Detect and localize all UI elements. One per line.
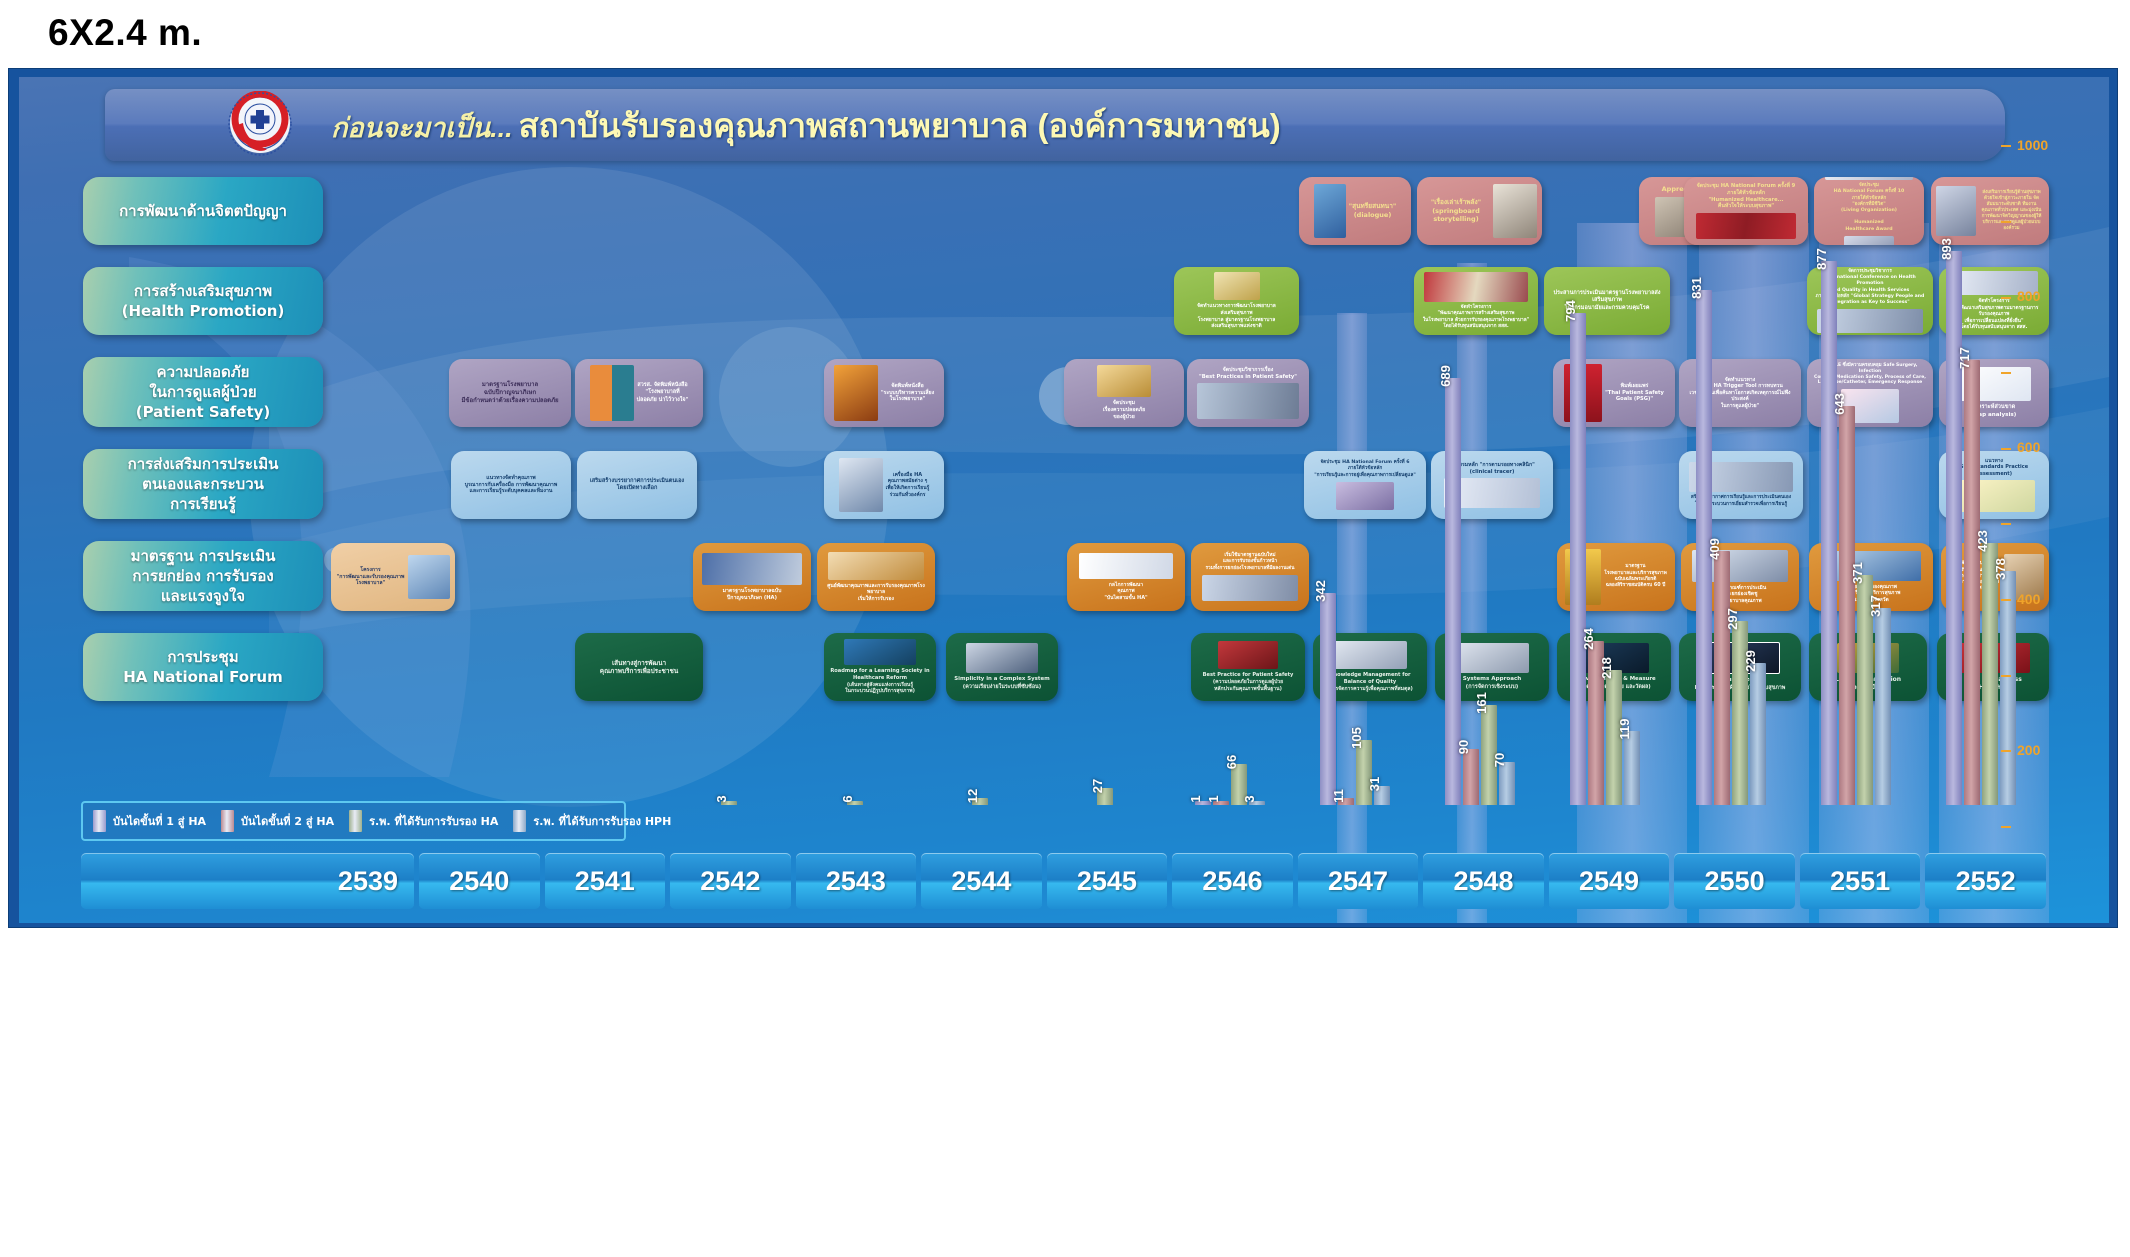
y-tick-dash [2001, 675, 2011, 677]
bar-value-label: 229 [1743, 650, 1758, 672]
bar-2547-s3[interactable]: 31 [1374, 786, 1390, 805]
sidebar-item-safety[interactable]: ความปลอดภัย ในการดูแลผู้ป่วย (Patient Sa… [83, 357, 323, 427]
legend-label-1: บันไดขั้นที่ 2 สู่ HA [241, 812, 334, 830]
bar-value-label: 3 [714, 795, 729, 802]
bar-value-label: 6 [840, 795, 855, 802]
y-tick-dash [2001, 145, 2011, 147]
legend-swatch-3 [513, 810, 526, 832]
year-cell-2552[interactable]: 2552 [1925, 853, 2046, 909]
y-tick-label: 1000 [2017, 137, 2048, 153]
bar-group-2549: 794264218119 [1545, 185, 1665, 805]
bar-value-label: 11 [1331, 789, 1346, 803]
year-cell-2543[interactable]: 2543 [796, 853, 917, 909]
bar-2552-s2[interactable]: 423 [1982, 543, 1998, 805]
y-tick-800: 800 [2001, 288, 2105, 304]
bar-2547-s2[interactable]: 105 [1356, 740, 1372, 805]
page-title: ก่อนจะมาเป็น...สถาบันรับรองคุณภาพสถานพยา… [331, 99, 1281, 152]
y-tick-600: 600 [2001, 439, 2105, 455]
bar-value-label: 409 [1707, 539, 1722, 561]
year-cell-2549[interactable]: 2549 [1549, 853, 1670, 909]
haa-institute-logo [215, 91, 305, 159]
bar-2548-s1[interactable]: 90 [1463, 749, 1479, 805]
bar-group-2550: 831409297229 [1671, 185, 1791, 805]
bar-value-label: 423 [1975, 530, 1990, 552]
bar-value-label: 218 [1599, 657, 1614, 679]
y-tick-label: 200 [2017, 742, 2040, 758]
y-tick-100: 100 [2001, 817, 2105, 833]
poster-header: ก่อนจะมาเป็น...สถาบันรับรองคุณภาพสถานพยา… [105, 89, 2005, 161]
sidebar-item-forum[interactable]: การประชุม HA National Forum [83, 633, 323, 701]
bar-2551-s3[interactable]: 317 [1875, 608, 1891, 805]
y-tick-300: 300 [2001, 666, 2105, 682]
y-tick-label: 800 [2017, 288, 2040, 304]
y-tick-dash [2001, 297, 2011, 299]
y-tick-dash [2001, 826, 2011, 828]
bar-value-label: 643 [1832, 393, 1847, 415]
bar-value-label: 297 [1725, 608, 1740, 630]
page-title-prefix: ก่อนจะมาเป็น... [331, 113, 513, 143]
sidebar-item-standards[interactable]: มาตรฐาน การประเมิน การยกย่อง การรับรอง แ… [83, 541, 323, 611]
bar-value-label: 12 [965, 788, 980, 802]
y-tick-900: 900 [2001, 213, 2105, 229]
y-tick-dash [2001, 750, 2011, 752]
bar-chart: 3612271166334211105316899016170794264218… [319, 185, 2019, 805]
page-title-main: สถาบันรับรองคุณภาพสถานพยาบาล (องค์การมหา… [519, 107, 1281, 144]
bar-group-2543: 6 [794, 185, 914, 805]
bar-2546-s1[interactable]: 1 [1213, 801, 1229, 805]
y-tick-400: 400 [2001, 591, 2105, 607]
bar-value-label: 371 [1850, 562, 1865, 584]
bar-group-2542: 3 [669, 185, 789, 805]
sidebar-item-health[interactable]: การสร้างเสริมสุขภาพ (Health Promotion) [83, 267, 323, 335]
bar-2551-s0[interactable]: 877 [1821, 261, 1837, 805]
bar-value-label: 31 [1367, 777, 1382, 791]
bar-group-2551: 877643371317 [1796, 185, 1916, 805]
year-cell-2547[interactable]: 2547 [1298, 853, 1419, 909]
bar-group-2545: 27 [1045, 185, 1165, 805]
legend-label-0: บันไดขั้นที่ 1 สู่ HA [113, 812, 206, 830]
bar-value-label: 893 [1939, 238, 1954, 260]
y-tick-200: 200 [2001, 742, 2105, 758]
poster-canvas: ก่อนจะมาเป็น...สถาบันรับรองคุณภาพสถานพยา… [19, 77, 2109, 923]
bar-value-label: 1 [1188, 795, 1203, 802]
bar-value-label: 831 [1689, 277, 1704, 299]
bar-value-label: 90 [1456, 740, 1471, 754]
year-cell-2545[interactable]: 2545 [1047, 853, 1168, 909]
y-tick-label: 400 [2017, 591, 2040, 607]
year-cell-2544[interactable]: 2544 [921, 853, 1042, 909]
poster-frame: ก่อนจะมาเป็น...สถาบันรับรองคุณภาพสถานพยา… [8, 68, 2118, 928]
year-cell-2540[interactable]: 2540 [419, 853, 540, 909]
y-tick-label: 600 [2017, 439, 2040, 455]
bar-group-2548: 6899016170 [1420, 185, 1540, 805]
bar-value-label: 317 [1868, 596, 1883, 618]
y-tick-dash [2001, 448, 2011, 450]
bar-value-label: 877 [1814, 248, 1829, 270]
bar-2552-s1[interactable]: 717 [1964, 360, 1980, 805]
bar-value-label: 264 [1581, 628, 1596, 650]
sidebar-item-label: การพัฒนาด้านจิตตปัญญา [119, 201, 287, 221]
bar-value-label: 66 [1224, 755, 1239, 769]
year-cell-2542[interactable]: 2542 [670, 853, 791, 909]
bar-value-label: 342 [1313, 580, 1328, 602]
y-axis: 01002003004005006007008009001000 [2001, 153, 2105, 909]
bar-value-label: 794 [1563, 300, 1578, 322]
y-tick-700: 700 [2001, 364, 2105, 380]
bar-2549-s0[interactable]: 794 [1570, 313, 1586, 805]
bar-2548-s3[interactable]: 70 [1499, 762, 1515, 805]
bar-value-label: 717 [1957, 348, 1972, 370]
bar-2546-s3[interactable]: 3 [1249, 801, 1265, 805]
y-tick-dash [2001, 599, 2011, 601]
bar-value-label: 70 [1492, 752, 1507, 766]
bar-2550-s1[interactable]: 409 [1714, 551, 1730, 805]
bar-group-2547: 3421110531 [1295, 185, 1415, 805]
year-axis: 2539254025412542254325442545254625472548… [81, 853, 2046, 909]
y-tick-dash [2001, 221, 2011, 223]
bar-value-label: 119 [1617, 719, 1632, 740]
bar-value-label: 27 [1090, 779, 1105, 793]
year-cell-2550[interactable]: 2550 [1674, 853, 1795, 909]
sidebar-item-spirit[interactable]: การพัฒนาด้านจิตตปัญญา [83, 177, 323, 245]
bar-2550-s2[interactable]: 297 [1732, 621, 1748, 805]
bar-value-label: 105 [1349, 727, 1364, 749]
bar-2543-s2[interactable]: 6 [847, 801, 863, 805]
bar-value-label: 689 [1438, 365, 1453, 387]
bar-2547-s1[interactable]: 11 [1338, 798, 1354, 805]
year-cell-2541[interactable]: 2541 [545, 853, 666, 909]
sidebar-item-label: การสร้างเสริมสุขภาพ (Health Promotion) [122, 281, 285, 322]
bar-value-label: 3 [1242, 795, 1257, 802]
chart-legend: บันไดขั้นที่ 1 สู่ HAบันไดขั้นที่ 2 สู่ … [81, 801, 626, 841]
y-tick-dash [2001, 523, 2011, 525]
year-cell-2546[interactable]: 2546 [1172, 853, 1293, 909]
sidebar-item-label: การส่งเสริมการประเมิน ตนเองและกระบวน การ… [128, 454, 279, 515]
legend-swatch-0 [93, 810, 106, 832]
sidebar-item-learning[interactable]: การส่งเสริมการประเมิน ตนเองและกระบวน การ… [83, 449, 323, 519]
year-axis-base: 2539 [81, 853, 414, 909]
legend-label-2: ร.พ. ที่ได้รับการรับรอง HA [369, 812, 498, 830]
bar-value-label: 161 [1474, 692, 1489, 714]
bar-value-label: 1 [1206, 795, 1221, 802]
legend-swatch-1 [221, 810, 234, 832]
bar-2549-s3[interactable]: 119 [1624, 731, 1640, 805]
legend-label-3: ร.พ. ที่ได้รับการรับรอง HPH [533, 812, 671, 830]
bar-2551-s1[interactable]: 643 [1839, 406, 1855, 805]
poster-size-caption: 6X2.4 m. [48, 12, 202, 54]
bar-2550-s3[interactable]: 229 [1750, 663, 1766, 805]
bar-2544-s2[interactable]: 12 [972, 798, 988, 805]
y-tick-1000: 1000 [2001, 137, 2105, 153]
sidebar-item-label: มาตรฐาน การประเมิน การยกย่อง การรับรอง แ… [131, 546, 276, 607]
bar-2542-s2[interactable]: 3 [721, 801, 737, 805]
bar-2545-s2[interactable]: 27 [1097, 788, 1113, 805]
bar-group-2546: 11663 [1170, 185, 1290, 805]
bar-2547-s0[interactable]: 342 [1320, 593, 1336, 805]
y-tick-500: 500 [2001, 515, 2105, 531]
card-thumbnail [1825, 177, 1913, 180]
sidebar-item-label: ความปลอดภัย ในการดูแลผู้ป่วย (Patient Sa… [136, 362, 271, 423]
bar-group-2544: 12 [920, 185, 1040, 805]
bar-2552-s0[interactable]: 893 [1946, 251, 1962, 805]
year-cell-2548[interactable]: 2548 [1423, 853, 1544, 909]
y-tick-dash [2001, 372, 2011, 374]
year-cell-2551[interactable]: 2551 [1800, 853, 1921, 909]
sidebar-item-label: การประชุม HA National Forum [123, 647, 283, 688]
legend-swatch-2 [349, 810, 362, 832]
year-axis-base-label: 2539 [338, 866, 398, 897]
